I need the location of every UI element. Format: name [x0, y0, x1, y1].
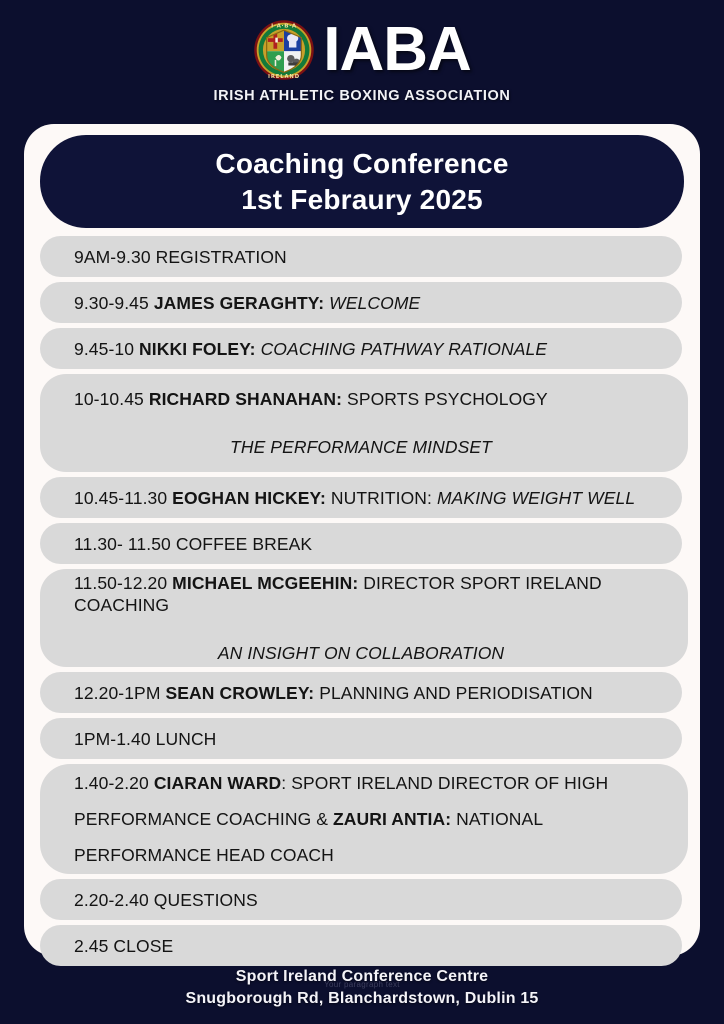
venue-address: Snugborough Rd, Blanchardstown, Dublin 1…	[0, 988, 724, 1010]
schedule-row-main: 2.45 CLOSE	[74, 935, 682, 957]
schedule-row-main: 1PM-1.40 LUNCH	[74, 728, 682, 750]
schedule-row-main: 9AM-9.30 REGISTRATION	[74, 246, 682, 268]
schedule-row-main: 10-10.45 RICHARD SHANAHAN: SPORTS PSYCHO…	[74, 388, 688, 410]
iaba-crest-icon: I·A·B·A IRELAND	[253, 19, 315, 81]
schedule-row-ward: 1.40-2.20 CIARAN WARD: SPORT IRELAND DIR…	[40, 764, 688, 874]
venue-footer: Your paragraph text Sport Ireland Confer…	[0, 966, 724, 1010]
poster-root: I·A·B·A IRELAND IABA IRISH ATHLETIC BOXI…	[0, 0, 724, 1024]
conference-title-pill: Coaching Conference 1st Febraury 2025	[40, 135, 684, 228]
schedule-row: 2.45 CLOSE	[40, 925, 682, 966]
schedule-row-subtitle: THE PERFORMANCE MINDSET	[74, 436, 688, 458]
schedule-row-main: 1.40-2.20 CIARAN WARD: SPORT IRELAND DIR…	[74, 765, 688, 873]
schedule-row: 10.45-11.30 EOGHAN HICKEY: NUTRITION: MA…	[40, 477, 682, 518]
svg-text:I·A·B·A: I·A·B·A	[271, 24, 297, 30]
schedule-row-main: 11.30- 11.50 COFFEE BREAK	[74, 533, 682, 555]
schedule-row-subtitle: AN INSIGHT ON COLLABORATION	[74, 642, 688, 664]
schedule-row-main: 10.45-11.30 EOGHAN HICKEY: NUTRITION: MA…	[74, 487, 682, 509]
schedule-row: 1PM-1.40 LUNCH	[40, 718, 682, 759]
schedule-row: 10-10.45 RICHARD SHANAHAN: SPORTS PSYCHO…	[40, 374, 688, 472]
schedule-row: 2.20-2.40 QUESTIONS	[40, 879, 682, 920]
svg-text:IRELAND: IRELAND	[268, 74, 300, 80]
ghost-placeholder-text: Your paragraph text	[0, 980, 724, 989]
brand-subtitle: IRISH ATHLETIC BOXING ASSOCIATION	[214, 88, 511, 104]
schedule-row: 9AM-9.30 REGISTRATION	[40, 236, 682, 277]
schedule-row: 9.30-9.45 JAMES GERAGHTY: WELCOME	[40, 282, 682, 323]
schedule-row-main: 2.20-2.40 QUESTIONS	[74, 889, 682, 911]
schedule-list: 9AM-9.30 REGISTRATION9.30-9.45 JAMES GER…	[40, 236, 700, 971]
schedule-row: 9.45-10 NIKKI FOLEY: COACHING PATHWAY RA…	[40, 328, 682, 369]
schedule-row: 12.20-1PM SEAN CROWLEY: PLANNING AND PER…	[40, 672, 682, 713]
brand-wordmark: IABA	[323, 19, 471, 81]
conference-title: Coaching Conference	[215, 146, 508, 182]
schedule-row-main: 9.45-10 NIKKI FOLEY: COACHING PATHWAY RA…	[74, 338, 682, 360]
schedule-row: 11.50-12.20 MICHAEL MCGEEHIN: DIRECTOR S…	[40, 569, 688, 667]
schedule-row-main: 12.20-1PM SEAN CROWLEY: PLANNING AND PER…	[74, 682, 682, 704]
schedule-row: 11.30- 11.50 COFFEE BREAK	[40, 523, 682, 564]
brand-header: I·A·B·A IRELAND IABA IRISH ATHLETIC BOXI…	[0, 14, 724, 114]
logo-row: I·A·B·A IRELAND IABA	[253, 14, 471, 86]
schedule-card: Coaching Conference 1st Febraury 2025 9A…	[24, 124, 700, 956]
conference-date: 1st Febraury 2025	[241, 182, 483, 218]
schedule-row-main: 9.30-9.45 JAMES GERAGHTY: WELCOME	[74, 292, 682, 314]
schedule-row-main: 11.50-12.20 MICHAEL MCGEEHIN: DIRECTOR S…	[74, 572, 688, 616]
